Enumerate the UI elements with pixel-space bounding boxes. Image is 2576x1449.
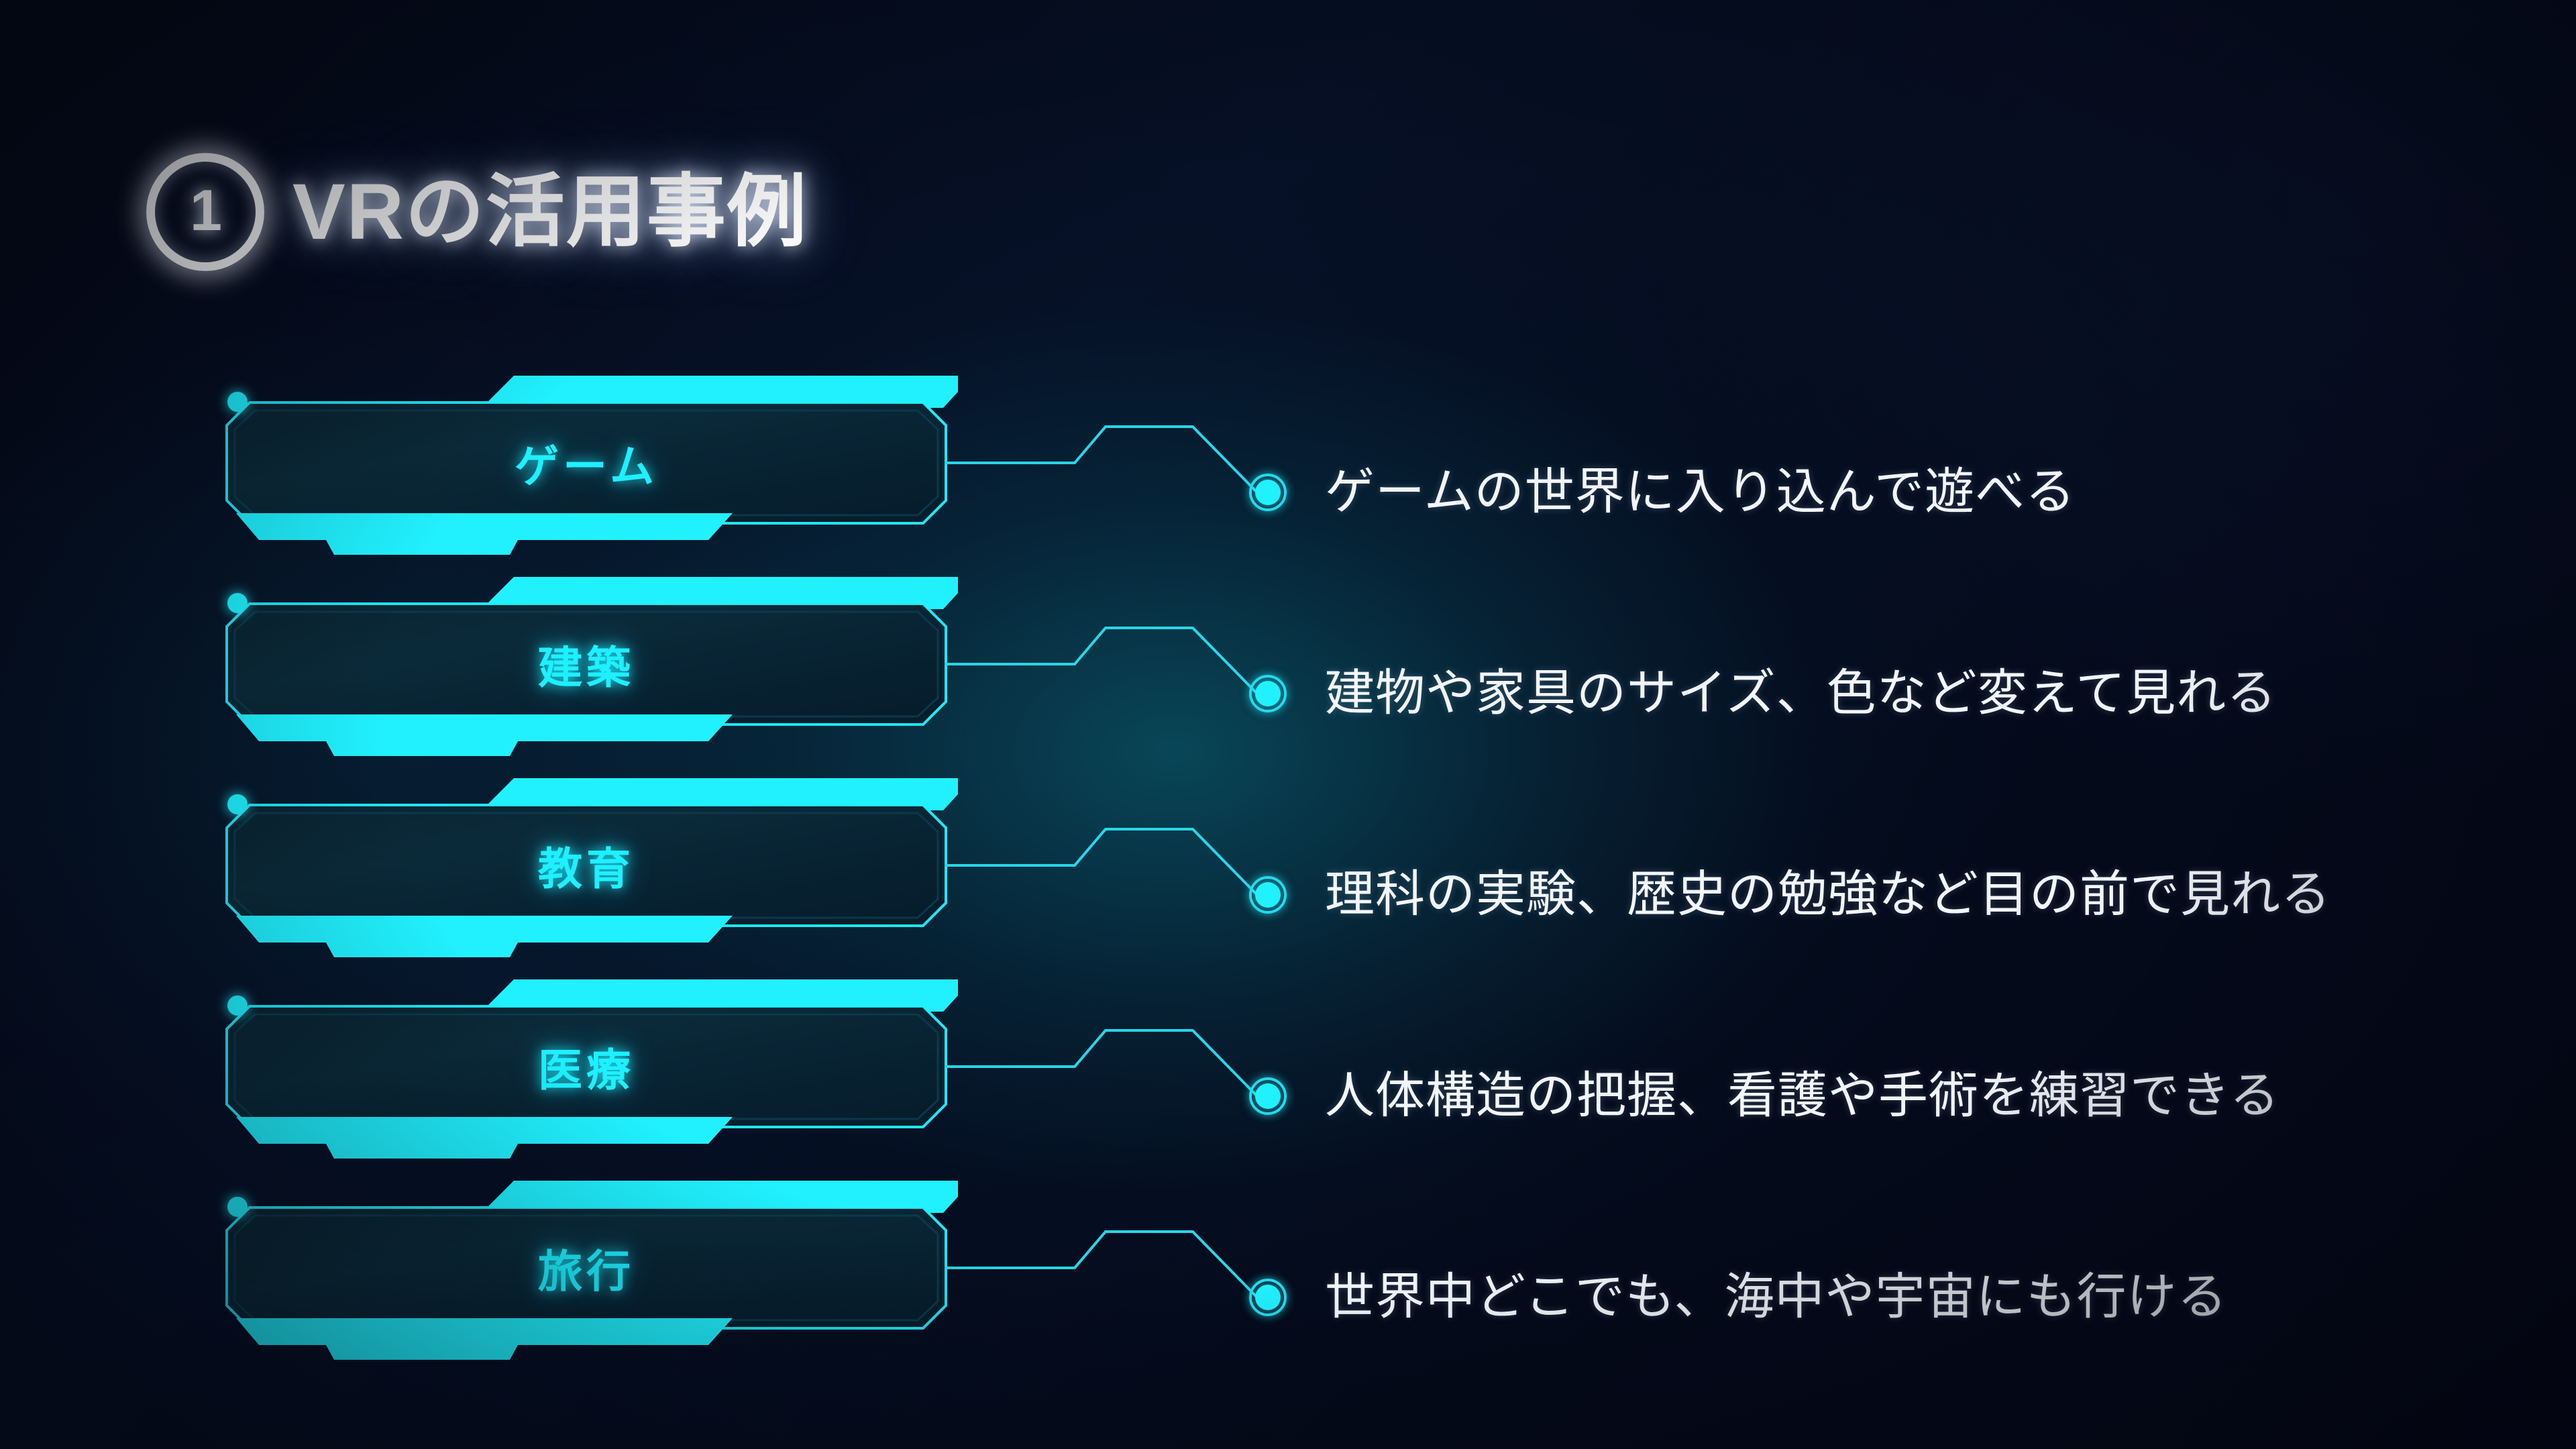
- content-rows: ゲームゲームの世界に入り込んで遊べる建築建物や家具のサイズ、色など変えて見れる教…: [0, 0, 2576, 1449]
- category-card[interactable]: ゲーム: [227, 376, 971, 543]
- bullet-dot-icon: [1249, 474, 1287, 511]
- slide-canvas: 1 VRの活用事例 ゲームゲームの世界に入り込んで遊べる建築建物や家具のサイズ、…: [0, 0, 2576, 1449]
- row-description: 理科の実験、歴史の勉強など目の前で見れる: [1325, 869, 2331, 919]
- card-accent-bar-bottom: [236, 1318, 733, 1360]
- row-description: 人体構造の把握、看護や手術を練習できる: [1325, 1071, 2280, 1120]
- bullet-dot-icon: [1249, 1077, 1287, 1115]
- bullet-dot-icon: [1249, 675, 1287, 712]
- row-description: 世界中どこでも、海中や宇宙にも行ける: [1325, 1272, 2228, 1322]
- card-accent-bar-bottom: [236, 916, 733, 957]
- row-description: ゲームの世界に入り込んで遊べる: [1325, 467, 2076, 517]
- bullet-dot-icon: [1249, 1279, 1287, 1316]
- bullet-core: [1255, 882, 1281, 908]
- card-corner-dot-icon: [227, 794, 248, 814]
- card-accent-bar-bottom: [236, 714, 733, 756]
- category-card[interactable]: 医療: [227, 979, 971, 1147]
- content-row: 建築建物や家具のサイズ、色など変えて見れる: [0, 577, 2576, 778]
- card-corner-dot-icon: [227, 996, 248, 1016]
- category-card[interactable]: 建築: [227, 577, 971, 745]
- card-accent-bar-bottom: [236, 513, 733, 555]
- bullet-core: [1255, 480, 1281, 505]
- content-row: 医療人体構造の把握、看護や手術を練習できる: [0, 979, 2576, 1181]
- content-row: 教育理科の実験、歴史の勉強など目の前で見れる: [0, 778, 2576, 979]
- card-corner-dot-icon: [227, 593, 248, 613]
- bullet-core: [1255, 1083, 1281, 1109]
- card-corner-dot-icon: [227, 392, 248, 412]
- card-accent-bar-bottom: [236, 1117, 733, 1159]
- content-row: 旅行世界中どこでも、海中や宇宙にも行ける: [0, 1181, 2576, 1382]
- bullet-dot-icon: [1249, 876, 1287, 914]
- card-corner-dot-icon: [227, 1197, 248, 1217]
- category-card[interactable]: 旅行: [227, 1181, 971, 1348]
- content-row: ゲームゲームの世界に入り込んで遊べる: [0, 376, 2576, 577]
- bullet-core: [1255, 681, 1281, 706]
- row-description: 建物や家具のサイズ、色など変えて見れる: [1325, 668, 2277, 718]
- bullet-core: [1255, 1285, 1281, 1310]
- category-card[interactable]: 教育: [227, 778, 971, 946]
